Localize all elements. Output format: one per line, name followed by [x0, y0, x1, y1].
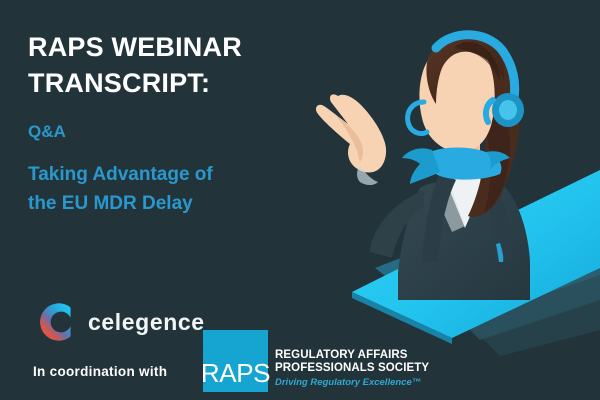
raps-name-line-2: PROFESSIONALS SOCIETY [275, 362, 429, 376]
celegence-c-icon [30, 296, 82, 348]
raps-name-line-1: REGULATORY AFFAIRS [275, 349, 429, 363]
celegence-wordmark: celegence [88, 311, 205, 334]
subtitle-line-1: Taking Advantage of [28, 161, 318, 190]
raps-badge: RAPS [203, 330, 268, 392]
raps-badge-text: RAPS [201, 360, 270, 392]
qa-label: Q&A [28, 121, 318, 143]
celegence-logo[interactable]: celegence [30, 296, 205, 348]
subtitle: Taking Advantage of the EU MDR Delay [28, 161, 318, 219]
page-title: RAPS WEBINAR TRANSCRIPT: [28, 30, 318, 101]
coordination-label: In coordination with [33, 364, 167, 379]
raps-tagline: Driving Regulatory Excellence™ [275, 377, 429, 389]
subtitle-line-2: the EU MDR Delay [28, 190, 318, 219]
headline-line-1: RAPS WEBINAR [28, 30, 318, 66]
webinar-transcript-banner: RAPS WEBINAR TRANSCRIPT: Q&A Taking Adva… [0, 0, 600, 400]
headline-block: RAPS WEBINAR TRANSCRIPT: Q&A Taking Adva… [28, 30, 318, 219]
raps-wordmark: REGULATORY AFFAIRS PROFESSIONALS SOCIETY… [275, 349, 429, 392]
headline-line-2: TRANSCRIPT: [28, 66, 318, 102]
raps-logo[interactable]: RAPS REGULATORY AFFAIRS PROFESSIONALS SO… [203, 330, 429, 392]
